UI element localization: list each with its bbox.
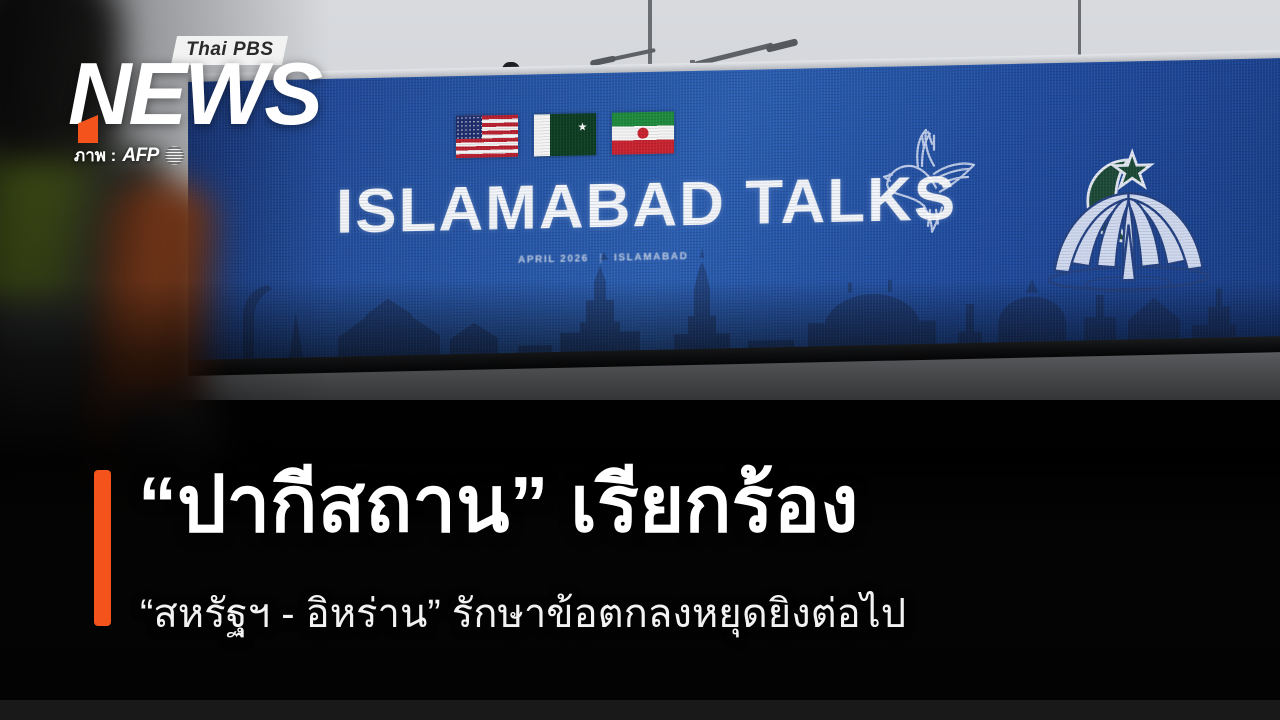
united-states-flag-icon xyxy=(456,115,518,158)
flag-row xyxy=(456,111,674,158)
us-flag-canton xyxy=(456,116,482,140)
brand-block: Thai PBS NEWS ภาพ : AFP xyxy=(68,28,368,173)
iran-flag-icon xyxy=(612,111,674,154)
billboard-title: ISLAMABAD TALKS xyxy=(336,163,957,248)
photo-credit: ภาพ : AFP xyxy=(74,142,184,169)
afp-wordmark: AFP xyxy=(122,145,159,167)
billboard-subtitle-date: APRIL 2026 xyxy=(518,253,589,266)
headline-sub: “สหรัฐฯ - อิหร่าน” รักษาข้อตกลงหยุดยิงต่… xyxy=(140,590,906,638)
headline-main: “ปากีสถาน” เรียกร้อง xyxy=(138,462,858,546)
headline-accent-bar xyxy=(94,470,111,626)
afp-globe-icon xyxy=(165,146,184,165)
officer-torso xyxy=(0,300,80,680)
photo-credit-label: ภาพ : xyxy=(74,142,116,169)
news-card: ISLAMABAD TALKS APRIL 2026 | ISLAMABAD T… xyxy=(0,0,1280,720)
billboard-subtitle-place: ISLAMABAD xyxy=(614,251,688,264)
pakistan-flag-icon xyxy=(534,113,596,156)
billboard-subtitle-divider: | xyxy=(599,253,603,264)
bottom-bar xyxy=(0,700,1280,720)
iran-emblem-icon xyxy=(638,127,649,138)
pk-flag-white-bar xyxy=(534,114,550,156)
news-wordmark: NEWS xyxy=(68,50,320,138)
